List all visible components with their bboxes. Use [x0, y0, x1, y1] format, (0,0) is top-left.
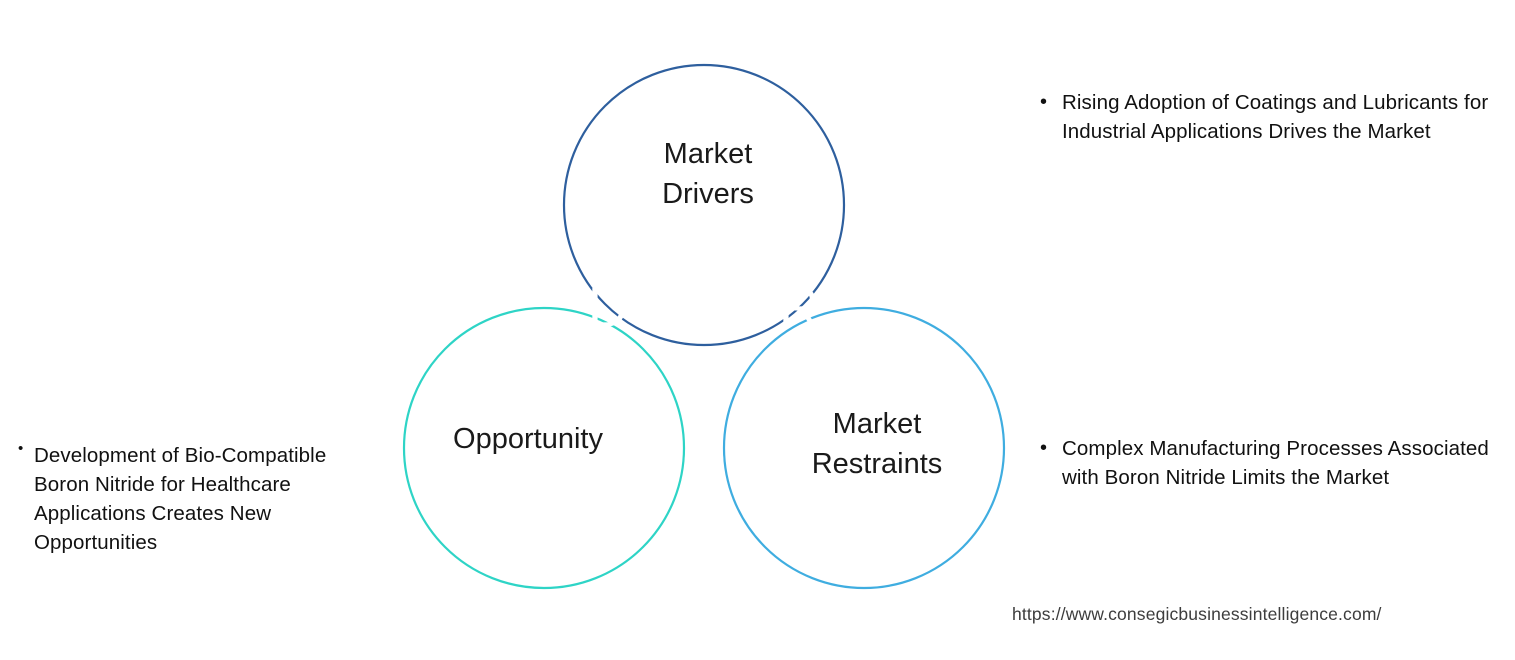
source-url[interactable]: https://www.consegicbusinessintelligence… — [1012, 604, 1382, 625]
label-market-drivers-line2: Drivers — [662, 178, 754, 210]
lens-letter-o: O — [682, 427, 726, 490]
venn-diagram: D R O Market Drivers Opportunity Market … — [380, 30, 1040, 620]
bullet-icon: • — [1040, 434, 1062, 462]
bullet-icon: • — [1040, 88, 1062, 116]
callout-opportunity: • Development of Bio-Compatible Boron Ni… — [18, 441, 363, 557]
label-market-restraints-line2: Restraints — [812, 448, 943, 480]
callout-market-drivers-text: Rising Adoption of Coatings and Lubrican… — [1062, 88, 1492, 146]
callout-opportunity-text: Development of Bio-Compatible Boron Nitr… — [34, 441, 363, 557]
lens-letter-d: D — [588, 276, 628, 339]
venn-svg: D R O Market Drivers Opportunity Market … — [380, 30, 1040, 620]
callout-market-restraints-text: Complex Manufacturing Processes Associat… — [1062, 434, 1492, 492]
callout-market-restraints: • Complex Manufacturing Processes Associ… — [1040, 434, 1492, 492]
label-opportunity: Opportunity — [453, 423, 603, 455]
bullet-icon: • — [18, 441, 34, 458]
label-market-drivers-line1: Market — [664, 138, 753, 170]
callout-market-drivers: • Rising Adoption of Coatings and Lubric… — [1040, 88, 1492, 146]
lens-letter-r: R — [779, 276, 819, 339]
diagram-canvas: D R O Market Drivers Opportunity Market … — [0, 0, 1515, 660]
label-market-restraints-line1: Market — [833, 408, 922, 440]
